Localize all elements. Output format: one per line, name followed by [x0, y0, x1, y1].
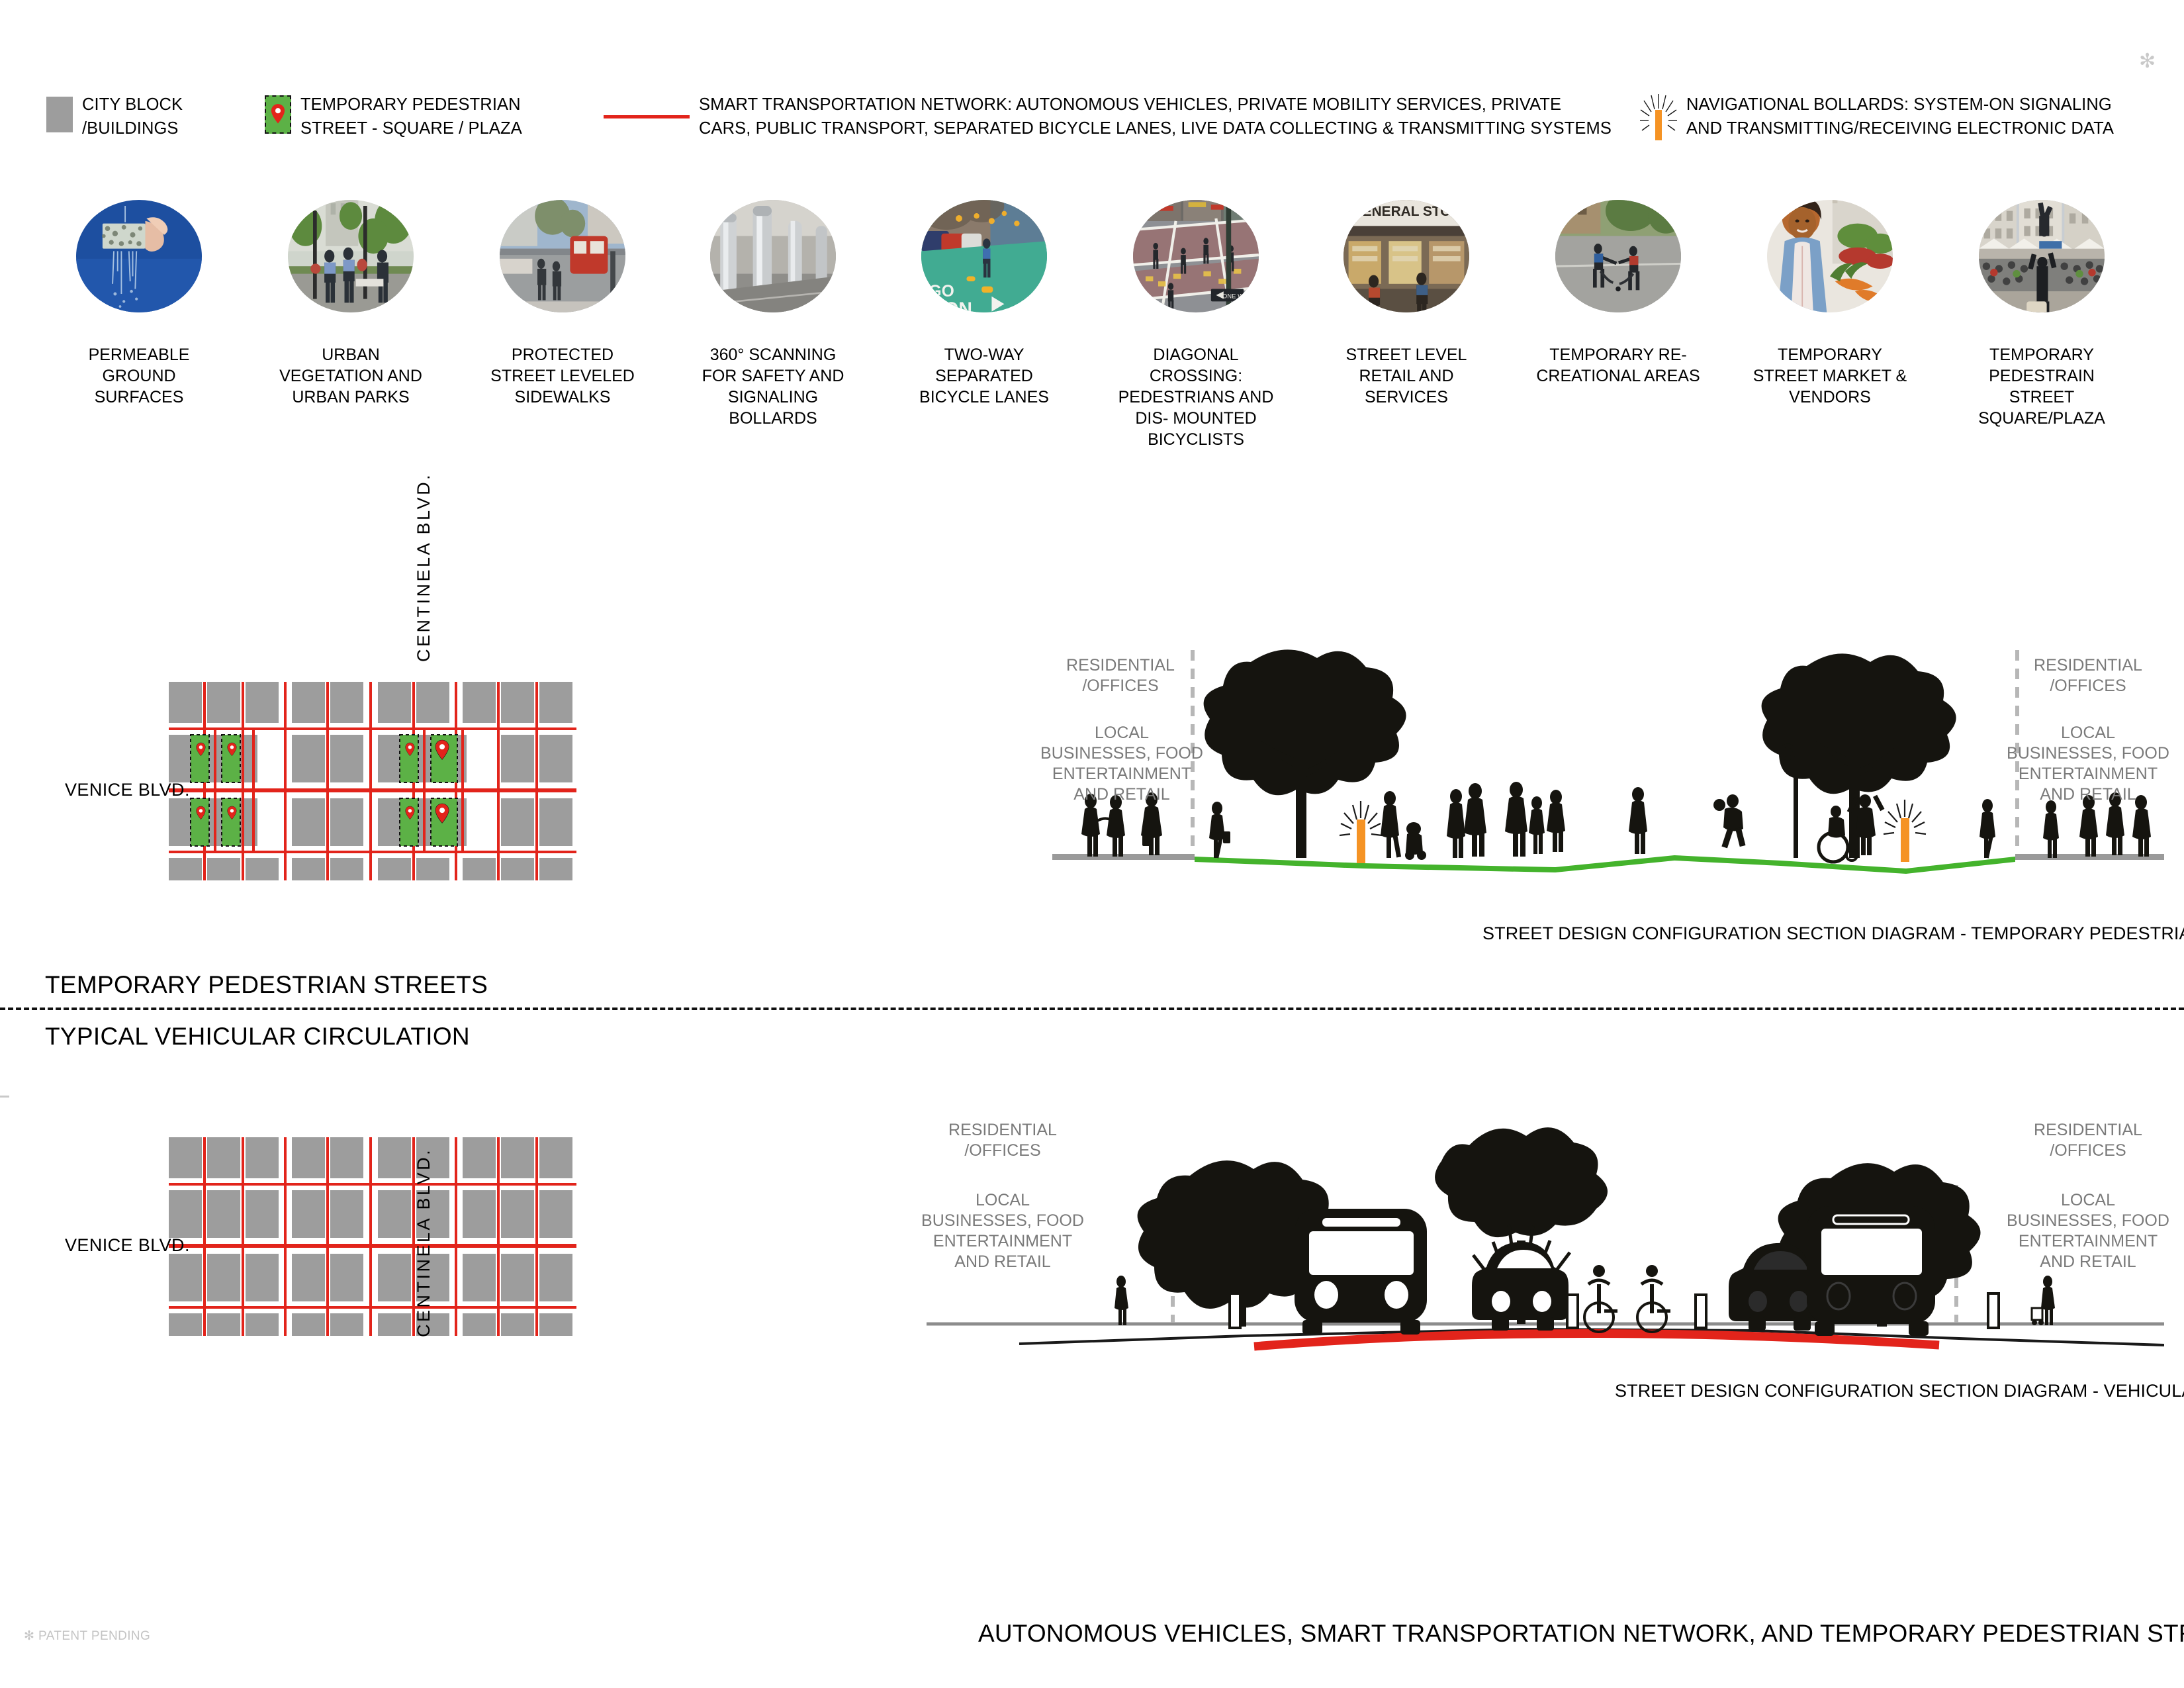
green-bike-lane-photo: GO ON [921, 200, 1047, 312]
green-pedestrian-ground [1195, 855, 2015, 874]
feature-caption: PROTECTED STREET LEVELED SIDEWALKS [480, 344, 645, 408]
street-hockey-recreation-photo [1555, 200, 1681, 312]
street-performer-plaza-photo [1979, 200, 2105, 312]
section-title-temporary-pedestrian-streets: TEMPORARY PEDESTRIAN STREETS [45, 971, 488, 999]
navigational-bollard-left [1340, 801, 1382, 863]
section-divider [0, 1008, 2184, 1010]
urban-park-people-photo [288, 200, 414, 312]
svg-text:ONE WAY: ONE WAY [1222, 293, 1251, 301]
left-edge-tick [0, 1096, 9, 1098]
vehicular-section-diagram [927, 1099, 2164, 1370]
feature-caption: PERMEABLE GROUND SURFACES [56, 344, 222, 408]
feature-street-level-retail: GENERAL STOR STREET L [1324, 200, 1489, 408]
basketball-hoop [1774, 728, 1801, 858]
section-label-left-upper-vehicular: RESIDENTIAL /OFFICES [940, 1120, 1066, 1161]
section-label-right-lower-pedestrian: LOCAL BUSINESSES, FOOD ENTERTAINMENT AND… [2005, 723, 2171, 805]
feature-bicycle-lanes: GO ON TWO-WAY SEPARATED BICYCLE LANES [901, 200, 1067, 408]
legend-item-city-block: CITY BLOCK /BUILDINGS [46, 93, 183, 140]
section-title-typical-vehicular-circulation: TYPICAL VEHICULAR CIRCULATION [45, 1023, 470, 1051]
section-caption-pedestrian: STREET DESIGN CONFIGURATION SECTION DIAG… [1482, 923, 2184, 944]
feature-protected-sidewalks: PROTECTED STREET LEVELED SIDEWALKS [480, 200, 645, 408]
feature-caption: TEMPORARY STREET MARKET & VENDORS [1747, 344, 1913, 408]
farmers-market-vendor-photo [1767, 200, 1893, 312]
section-label-right-lower-vehicular: LOCAL BUSINESSES, FOOD ENTERTAINMENT AND… [2005, 1190, 2171, 1272]
navigational-bollard-icon [1640, 93, 1677, 142]
legend-item-pedestrian-plaza: TEMPORARY PEDESTRIAN STREET - SQUARE / P… [265, 93, 522, 140]
cyclist-right [1637, 1265, 1670, 1332]
svg-text:GENERAL STOR: GENERAL STOR [1351, 204, 1461, 219]
legend-item-smart-network: SMART TRANSPORTATION NETWORK: AUTONOMOUS… [604, 93, 1612, 140]
navigational-bollard-right [1884, 800, 1926, 862]
public-transport-bus-left [1295, 1209, 1427, 1335]
section-label-right-upper-pedestrian: RESIDENTIAL /OFFICES [2025, 655, 2151, 696]
section-label-right-upper-vehicular: RESIDENTIAL /OFFICES [2025, 1120, 2151, 1161]
patent-pending-note: ✻ PATENT PENDING [24, 1628, 150, 1644]
feature-caption: TWO-WAY SEPARATED BICYCLE LANES [901, 344, 1067, 408]
plan-street-label-centinela-vehicular: CENTINELA BLVD. [414, 1148, 434, 1337]
section-label-left-lower-vehicular: LOCAL BUSINESSES, FOOD ENTERTAINMENT AND… [920, 1190, 1085, 1272]
feature-urban-vegetation: URBAN VEGETATION AND URBAN PARKS [268, 200, 433, 408]
legend: CITY BLOCK /BUILDINGS TEMPORARY PEDESTRI… [0, 93, 2184, 152]
legend-item-navigational-bollards-text: NAVIGATIONAL BOLLARDS: SYSTEM-ON SIGNALI… [1686, 93, 2114, 140]
legend-item-smart-network-text: SMART TRANSPORTATION NETWORK: AUTONOMOUS… [699, 93, 1612, 140]
green-plaza-swatch-icon [265, 95, 291, 134]
general-store-retail-photo: GENERAL STOR [1343, 200, 1469, 312]
legend-item-pedestrian-plaza-text: TEMPORARY PEDESTRIAN STREET - SQUARE / P… [300, 93, 522, 140]
map-pin-icon [271, 104, 285, 124]
section-label-left-upper-pedestrian: RESIDENTIAL /OFFICES [1058, 655, 1183, 696]
red-street-line-swatch-icon [604, 115, 690, 118]
feature-caption: URBAN VEGETATION AND URBAN PARKS [268, 344, 433, 408]
plan-street-label-centinela-pedestrian: CENTINELA BLVD. [414, 473, 434, 662]
feature-pedestrian-plaza: TEMPORARY PEDESTRAIN STREET SQUARE/PLAZA [1959, 200, 2124, 429]
permeable-concrete-water-photo [76, 200, 202, 312]
pedestrian-plan-diagram [169, 682, 672, 880]
feature-scanning-bollards: 360° SCANNING FOR SAFETY AND SIGNALING B… [690, 200, 856, 429]
plan-street-label-venice-vehicular: VENICE BLVD. [65, 1235, 190, 1256]
cyclist-left [1584, 1265, 1617, 1332]
legend-item-city-block-text: CITY BLOCK /BUILDINGS [82, 93, 183, 140]
pedestrian-section-diagram [1052, 635, 2164, 894]
section-caption-vehicular: STREET DESIGN CONFIGURATION SECTION DIAG… [1615, 1381, 2184, 1401]
feature-caption: DIAGONAL CROSSING: PEDESTRIANS AND DIS- … [1113, 344, 1279, 450]
feature-caption: TEMPORARY PEDESTRAIN STREET SQUARE/PLAZA [1959, 344, 2124, 429]
svg-text:GO: GO [929, 283, 954, 301]
feature-permeable-ground-surfaces: PERMEABLE GROUND SURFACES [56, 200, 222, 408]
metal-bollards-photo [710, 200, 836, 312]
private-car-left [1472, 1242, 1569, 1331]
sidewalk-left [1052, 854, 1195, 860]
plan-street-label-venice-pedestrian: VENICE BLVD. [65, 780, 190, 800]
street-sidewalk-bus-photo [500, 200, 625, 312]
feature-diagonal-crossing: ONE WAY DIAGONAL CROSSING: PEDESTRIANS A… [1113, 200, 1279, 450]
pedestrian-figure-right [2032, 1276, 2055, 1325]
board-title: AUTONOMOUS VEHICLES, SMART TRANSPORTATIO… [978, 1620, 2184, 1648]
feature-street-market: TEMPORARY STREET MARKET & VENDORS [1747, 200, 1913, 408]
smart-network-road-line [1254, 1333, 1939, 1346]
public-transport-bus-right [1807, 1206, 1935, 1336]
pedestrian-figures [1081, 782, 2151, 862]
patent-asterisk-mark: ✻ [2139, 52, 2156, 71]
svg-text:ON: ON [944, 299, 972, 312]
pedestrian-figure-left [1115, 1276, 1128, 1325]
section-label-left-lower-pedestrian: LOCAL BUSINESSES, FOOD ENTERTAINMENT AND… [1039, 723, 1205, 805]
legend-item-navigational-bollards: NAVIGATIONAL BOLLARDS: SYSTEM-ON SIGNALI… [1640, 93, 2114, 142]
gray-block-swatch-icon [46, 97, 73, 132]
feature-caption: TEMPORARY RE- CREATIONAL AREAS [1535, 344, 1701, 387]
feature-caption: 360° SCANNING FOR SAFETY AND SIGNALING B… [690, 344, 856, 429]
diagonal-crossing-intersection-photo: ONE WAY [1133, 200, 1259, 312]
feature-recreational-areas: TEMPORARY RE- CREATIONAL AREAS [1535, 200, 1701, 387]
feature-caption: STREET LEVEL RETAIL AND SERVICES [1324, 344, 1489, 408]
